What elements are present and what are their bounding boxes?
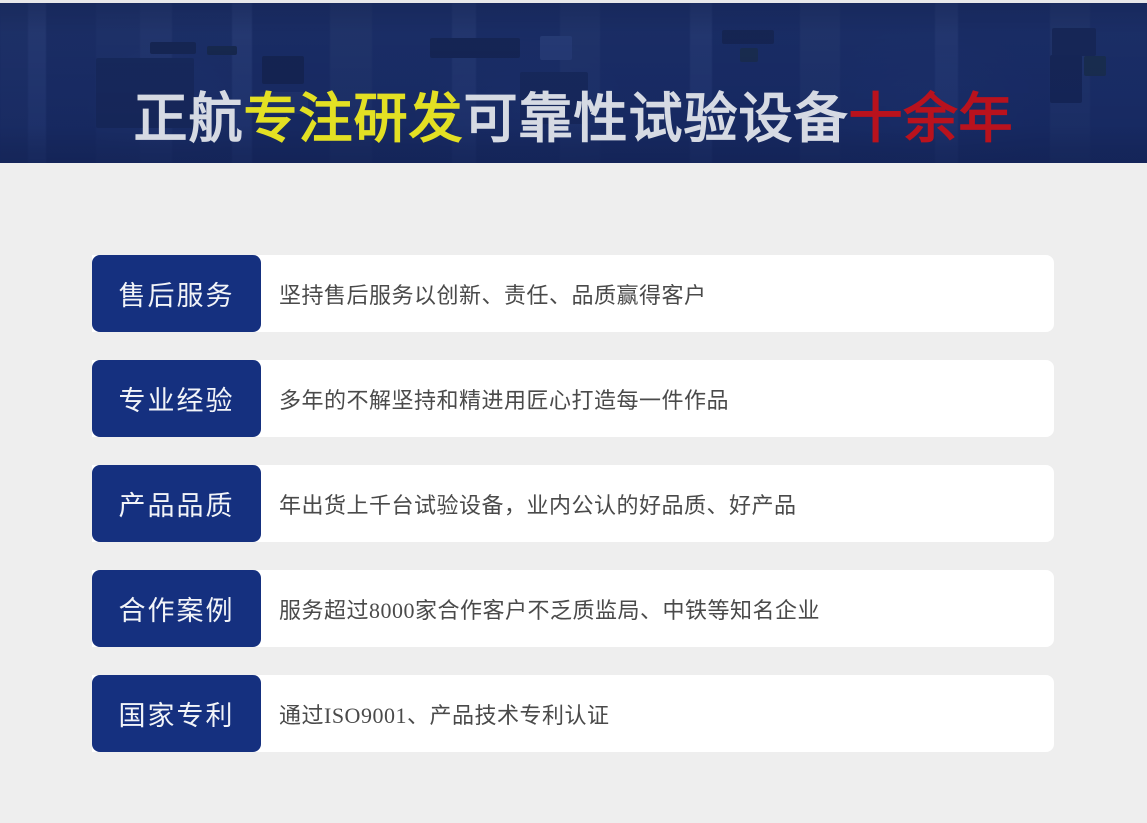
feature-description: 年出货上千台试验设备，业内公认的好品质、好产品 bbox=[261, 465, 1054, 542]
banner-top-divider bbox=[0, 0, 1147, 3]
banner-title-segment-2: 专注研发 bbox=[244, 89, 464, 149]
feature-label-badge[interactable]: 合作案例 bbox=[92, 570, 261, 647]
feature-row[interactable]: 售后服务 坚持售后服务以创新、责任、品质赢得客户 bbox=[92, 255, 1054, 332]
feature-label-text: 国家专利 bbox=[119, 694, 235, 733]
feature-label-badge[interactable]: 售后服务 bbox=[92, 255, 261, 332]
banner-title: 正航专注研发可靠性试验设备十余年 bbox=[0, 88, 1147, 150]
banner-title-segment-1: 正航 bbox=[134, 89, 244, 149]
feature-label-text: 合作案例 bbox=[119, 589, 235, 628]
banner-title-segment-3: 可靠性试验设备 bbox=[464, 89, 849, 149]
feature-row[interactable]: 专业经验 多年的不解坚持和精进用匠心打造每一件作品 bbox=[92, 360, 1054, 437]
feature-label-badge[interactable]: 国家专利 bbox=[92, 675, 261, 752]
feature-label-text: 专业经验 bbox=[119, 379, 235, 418]
feature-label-badge[interactable]: 产品品质 bbox=[92, 465, 261, 542]
feature-row[interactable]: 产品品质 年出货上千台试验设备，业内公认的好品质、好产品 bbox=[92, 465, 1054, 542]
feature-description: 多年的不解坚持和精进用匠心打造每一件作品 bbox=[261, 360, 1054, 437]
feature-description: 通过ISO9001、产品技术专利认证 bbox=[261, 675, 1054, 752]
feature-row[interactable]: 合作案例 服务超过8000家合作客户不乏质监局、中铁等知名企业 bbox=[92, 570, 1054, 647]
feature-label-text: 产品品质 bbox=[119, 484, 235, 523]
feature-list: 售后服务 坚持售后服务以创新、责任、品质赢得客户 专业经验 多年的不解坚持和精进… bbox=[92, 255, 1054, 780]
feature-description: 服务超过8000家合作客户不乏质监局、中铁等知名企业 bbox=[261, 570, 1054, 647]
feature-description: 坚持售后服务以创新、责任、品质赢得客户 bbox=[261, 255, 1054, 332]
feature-label-text: 售后服务 bbox=[119, 274, 235, 313]
hero-banner: 正航专注研发可靠性试验设备十余年 bbox=[0, 0, 1147, 163]
feature-row[interactable]: 国家专利 通过ISO9001、产品技术专利认证 bbox=[92, 675, 1054, 752]
banner-title-segment-4: 十余年 bbox=[849, 89, 1014, 149]
feature-label-badge[interactable]: 专业经验 bbox=[92, 360, 261, 437]
